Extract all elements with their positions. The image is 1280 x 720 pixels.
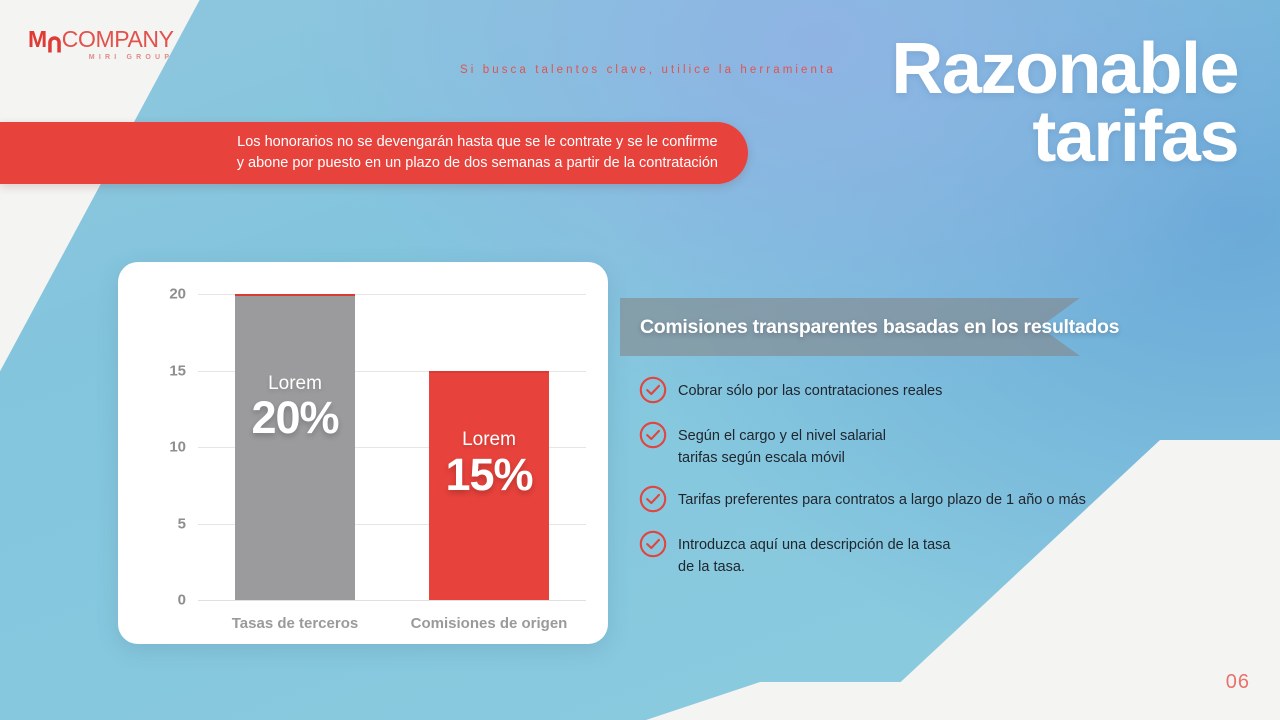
check-circle-icon	[638, 529, 668, 559]
benefit-item-line: Cobrar sólo por las contrataciones reale…	[678, 380, 942, 402]
logo-arch-icon	[47, 35, 62, 52]
chart-x-category-label: Comisiones de origen	[401, 615, 577, 632]
chart-card: 05101520Lorem20%Tasas de tercerosLorem15…	[118, 262, 608, 644]
check-circle-icon	[638, 484, 668, 514]
chart-bar: Lorem15%Comisiones de origen	[429, 371, 549, 601]
benefit-item-line: Introduzca aquí una descripción de la ta…	[678, 534, 950, 556]
benefit-item: Según el cargo y el nivel salarialtarifa…	[638, 423, 1238, 469]
check-circle-icon	[638, 420, 668, 450]
chart-bar-top-line	[235, 294, 355, 296]
chart-bar-labels: Lorem20%	[235, 374, 355, 442]
benefit-item-text: Según el cargo y el nivel salarialtarifa…	[678, 423, 886, 469]
benefit-item-line: de la tasa.	[678, 556, 950, 578]
chart-x-category-label: Tasas de terceros	[207, 615, 383, 632]
logo-company-text: COMPANY	[62, 28, 174, 51]
slide: M COMPANY MIRI GROUP Si busca talentos c…	[0, 0, 1280, 720]
company-logo: M COMPANY MIRI GROUP	[28, 28, 228, 61]
chart-y-tick-label: 20	[169, 286, 186, 303]
benefit-item: Introduzca aquí una descripción de la ta…	[638, 532, 1238, 578]
chart-plot-area: 05101520Lorem20%Tasas de tercerosLorem15…	[198, 294, 586, 600]
chart-y-tick-label: 5	[178, 515, 186, 532]
red-notice-text: Los honorarios no se devengarán hasta qu…	[237, 132, 748, 174]
chart-bar-value-label: 20%	[235, 394, 355, 441]
red-notice-line2: y abone por puesto en un plazo de dos se…	[237, 153, 718, 174]
chart-bar-labels: Lorem15%	[429, 430, 549, 498]
benefit-item: Cobrar sólo por las contrataciones reale…	[638, 378, 1238, 405]
benefit-item-line: Según el cargo y el nivel salarial	[678, 425, 886, 447]
chart-y-tick-label: 10	[169, 439, 186, 456]
benefit-item-text: Cobrar sólo por las contrataciones reale…	[678, 378, 942, 402]
chart-bar-value-label: 15%	[429, 451, 549, 498]
logo-wordmark: M COMPANY	[28, 28, 228, 51]
benefit-item-line: tarifas según escala móvil	[678, 447, 886, 469]
page-number: 06	[1226, 671, 1250, 694]
red-notice-line1: Los honorarios no se devengarán hasta qu…	[237, 132, 718, 153]
logo-subtitle: MIRI GROUP	[28, 54, 228, 61]
chart-bar-overline: Lorem	[235, 374, 355, 395]
benefit-item-text: Introduzca aquí una descripción de la ta…	[678, 532, 950, 578]
benefit-item: Tarifas preferentes para contratos a lar…	[638, 487, 1238, 514]
chart-bar: Lorem20%Tasas de terceros	[235, 294, 355, 600]
chart-y-tick-label: 15	[169, 362, 186, 379]
section-ribbon-heading: Comisiones transparentes basadas en los …	[640, 298, 1240, 356]
benefit-item-line: Tarifas preferentes para contratos a lar…	[678, 489, 1086, 511]
chart-y-tick-label: 0	[178, 592, 186, 609]
logo-letter-m: M	[28, 28, 47, 51]
benefits-list: Cobrar sólo por las contrataciones reale…	[638, 378, 1238, 596]
page-title-line1: Razonable	[538, 36, 1238, 104]
red-notice-banner: Los honorarios no se devengarán hasta qu…	[0, 122, 748, 184]
chart-bar-top-line	[429, 371, 549, 373]
bar-chart: 05101520Lorem20%Tasas de tercerosLorem15…	[118, 262, 608, 644]
check-circle-icon	[638, 375, 668, 405]
chart-gridline	[198, 600, 586, 601]
chart-bar-overline: Lorem	[429, 430, 549, 451]
benefit-item-text: Tarifas preferentes para contratos a lar…	[678, 487, 1086, 511]
